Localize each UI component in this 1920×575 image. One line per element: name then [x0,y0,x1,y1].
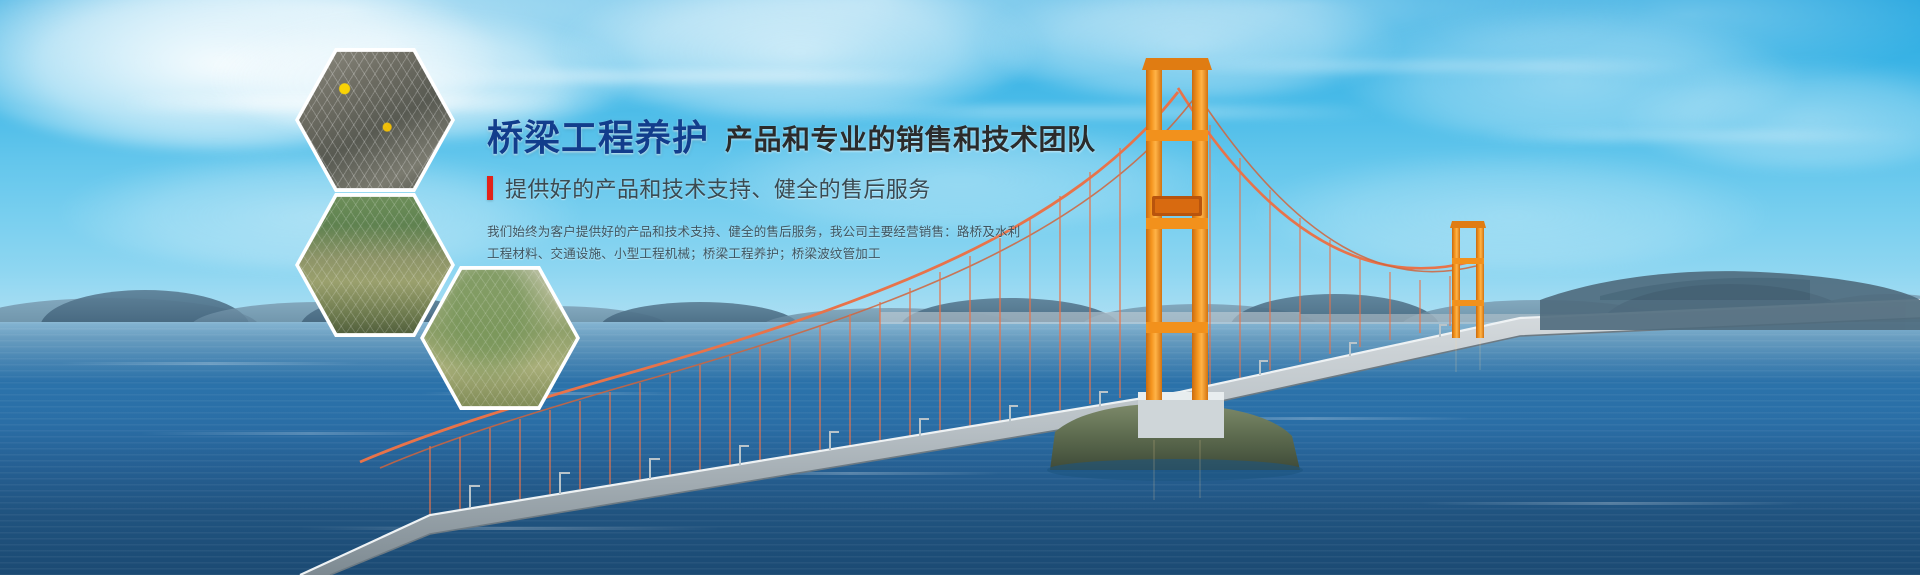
headline-secondary: 产品和专业的销售和技术团队 [725,126,1096,156]
banner-headline: 桥梁工程养护 产品和专业的销售和技术团队 [487,120,1107,156]
accent-bar [487,176,493,200]
body-line: 我们始终为客户提供好的产品和技术支持、健全的售后服务，我公司主要经营销售：路桥及… [487,222,1107,244]
far-right-headland [1540,271,1920,330]
hex-photo-rockfall-netting-worker[interactable] [295,45,455,195]
bridge-tower-main [1142,58,1212,400]
banner-subtitle: 提供好的产品和技术支持、健全的售后服务 [505,172,931,204]
hex-photo-image [299,49,451,191]
hex-photo-image [424,267,576,409]
banner-copy: 桥梁工程养护 产品和专业的销售和技术团队 提供好的产品和技术支持、健全的售后服务… [487,120,1107,266]
headline-primary: 桥梁工程养护 [487,120,709,156]
hex-photo-slope-protection-mesh[interactable] [295,190,455,340]
body-line: 工程材料、交通设施、小型工程机械；桥梁工程养护；桥梁波纹管加工 [487,244,1107,266]
banner-body: 我们始终为客户提供好的产品和技术支持、健全的售后服务，我公司主要经营销售：路桥及… [487,222,1107,266]
suspension-bridge-illustration [0,0,1920,575]
hero-banner: 桥梁工程养护 产品和专业的销售和技术团队 提供好的产品和技术支持、健全的售后服务… [0,0,1920,575]
hex-photo-vegetated-slope-mesh[interactable] [420,263,580,413]
bridge-pier-island [1047,392,1303,481]
hex-photo-image [299,194,451,336]
banner-subtitle-row: 提供好的产品和技术支持、健全的售后服务 [487,172,1107,204]
